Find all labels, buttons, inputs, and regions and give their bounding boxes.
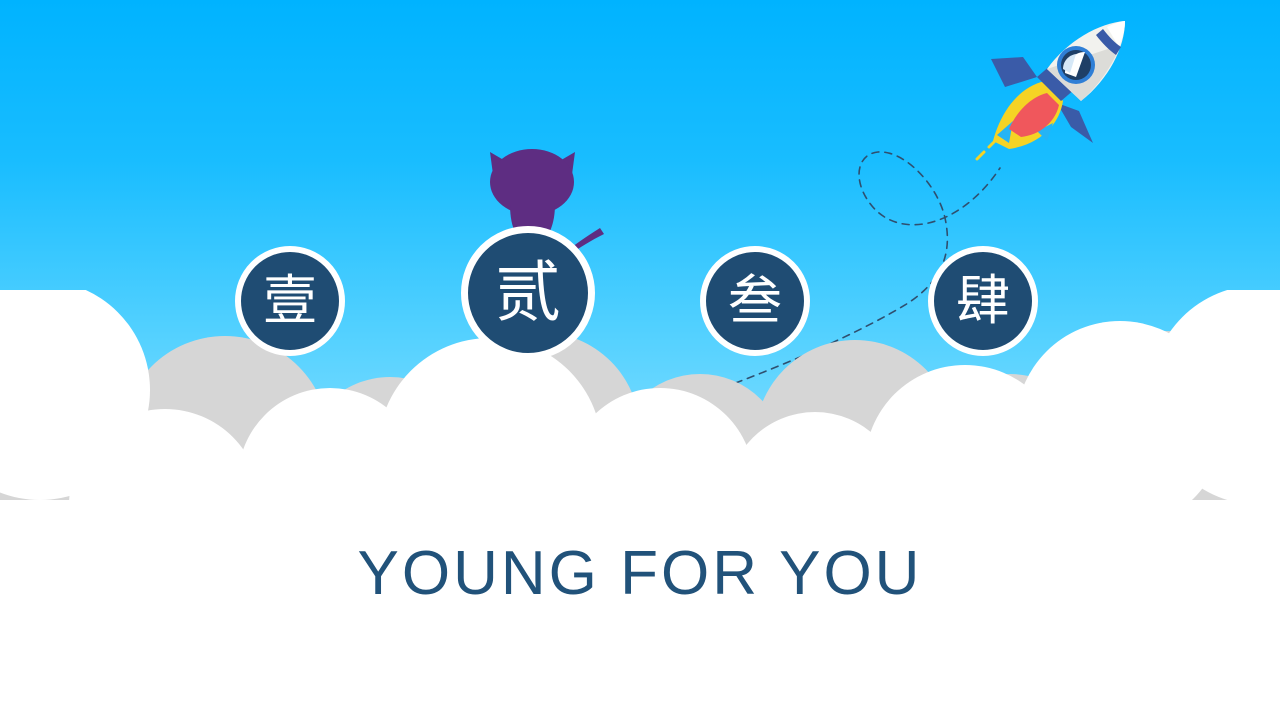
step-circle-three[interactable]: 叁 <box>700 246 810 356</box>
slide-title: YOUNG FOR YOU <box>0 538 1280 609</box>
rocket-icon <box>975 15 1140 165</box>
step-label-three: 叁 <box>728 274 782 328</box>
step-label-two: 贰 <box>495 260 561 326</box>
step-circle-two[interactable]: 贰 <box>461 226 595 360</box>
step-circle-four[interactable]: 肆 <box>928 246 1038 356</box>
step-label-one: 壹 <box>263 274 317 328</box>
step-label-four: 肆 <box>956 274 1010 328</box>
step-circle-one[interactable]: 壹 <box>235 246 345 356</box>
presentation-slide: 壹 贰 叁 肆 YOUNG FOR YOU <box>0 0 1280 720</box>
